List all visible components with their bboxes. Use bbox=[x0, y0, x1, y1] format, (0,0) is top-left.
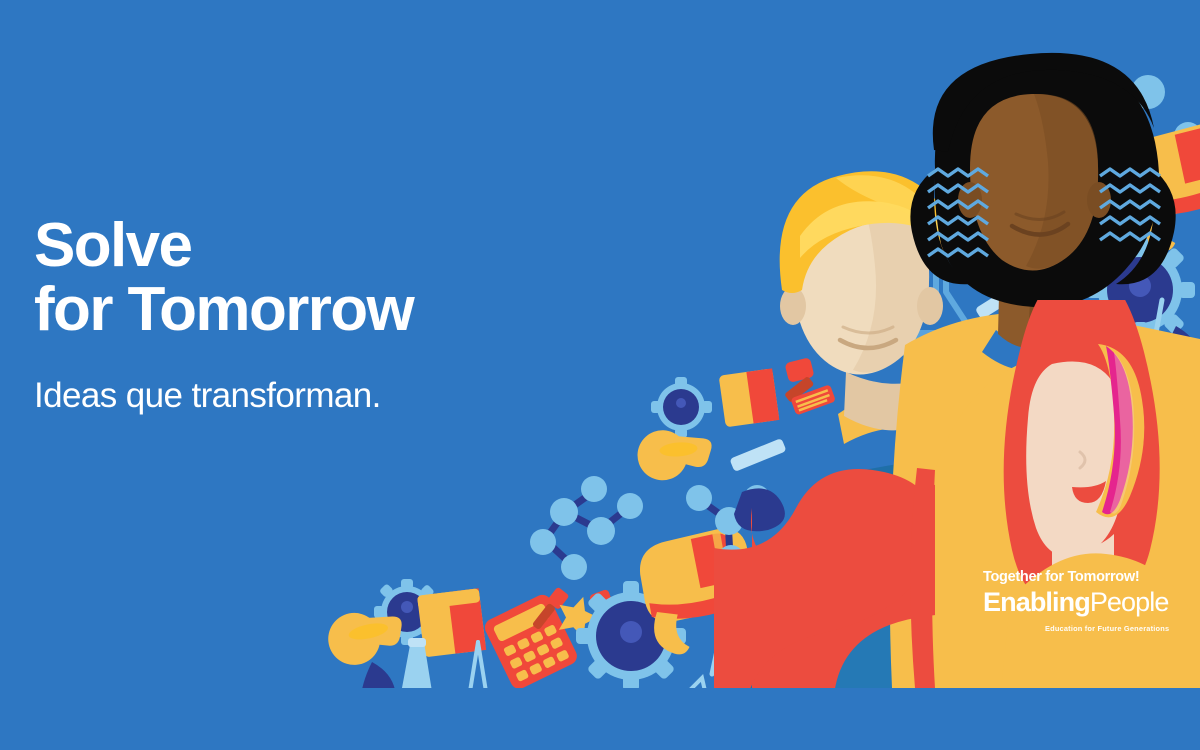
page-title: Solve for Tomorrow bbox=[34, 214, 654, 342]
poster-title-bold: Enabling bbox=[983, 587, 1090, 617]
hero-subtitle: Ideas que transforman. bbox=[34, 376, 654, 416]
headline-line-1: Solve bbox=[34, 211, 191, 280]
poster-title: EnablingPeople bbox=[983, 589, 1198, 616]
poster-title-light: People bbox=[1090, 587, 1169, 617]
poster-text-block: Together for Tomorrow! EnablingPeople Ed… bbox=[983, 570, 1198, 632]
hero-copy: Solve for Tomorrow Ideas que transforman… bbox=[34, 214, 654, 416]
poster-tagline: Together for Tomorrow! bbox=[983, 570, 1198, 585]
hero-banner: Solve for Tomorrow Ideas que transforman… bbox=[0, 0, 1200, 750]
book-icon bbox=[719, 368, 780, 427]
poster-footnote: Education for Future Generations bbox=[1045, 625, 1198, 632]
headline-line-2: for Tomorrow bbox=[34, 278, 654, 342]
